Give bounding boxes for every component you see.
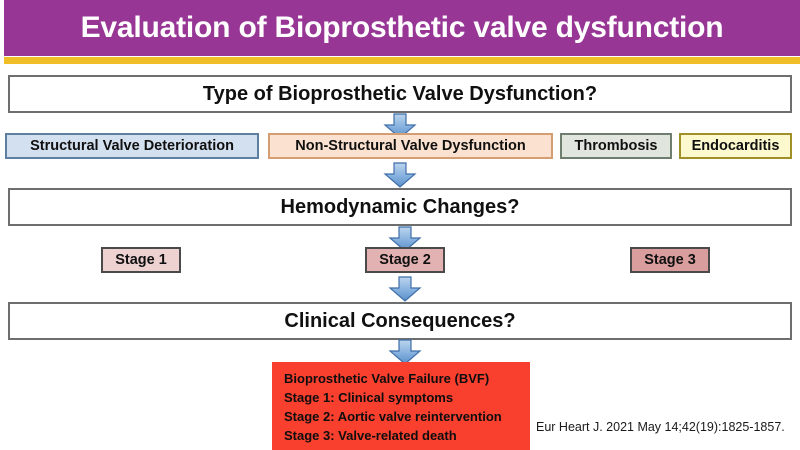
result-line-stage-2: Stage 2: Aortic valve reintervention — [284, 407, 530, 426]
type-box-thrombosis[interactable]: Thrombosis — [560, 133, 672, 159]
stage-box-1[interactable]: Stage 1 — [101, 247, 181, 273]
type-label-thrombosis: Thrombosis — [575, 138, 658, 154]
title-banner: Evaluation of Bioprosthetic valve dysfun… — [4, 0, 800, 56]
question-box-clinical: Clinical Consequences? — [8, 302, 792, 340]
result-line-stage-1: Stage 1: Clinical symptoms — [284, 388, 530, 407]
stage-label-3: Stage 3 — [644, 252, 696, 268]
citation-text: Eur Heart J. 2021 May 14;42(19):1825-185… — [536, 420, 785, 434]
result-line-stage-3: Stage 3: Valve-related death — [284, 426, 530, 445]
question-label-type: Type of Bioprosthetic Valve Dysfunction? — [203, 83, 597, 106]
type-box-structural-valve-deterioration[interactable]: Structural Valve Deterioration — [5, 133, 259, 159]
type-box-non-structural-valve-dysfunction[interactable]: Non-Structural Valve Dysfunction — [268, 133, 553, 159]
stage-label-2: Stage 2 — [379, 252, 431, 268]
question-label-hemodynamic: Hemodynamic Changes? — [281, 196, 520, 219]
result-box-bioprosthetic-valve-failure: Bioprosthetic Valve Failure (BVF) Stage … — [272, 362, 530, 450]
question-box-type: Type of Bioprosthetic Valve Dysfunction? — [8, 75, 792, 113]
title-accent-rule — [4, 57, 800, 64]
question-label-clinical: Clinical Consequences? — [284, 310, 515, 333]
type-label-nsvd: Non-Structural Valve Dysfunction — [295, 138, 525, 154]
down-arrow-icon — [383, 162, 417, 188]
type-label-svd: Structural Valve Deterioration — [30, 138, 234, 154]
page-title: Evaluation of Bioprosthetic valve dysfun… — [81, 11, 724, 45]
stage-label-1: Stage 1 — [115, 252, 167, 268]
stage-box-2[interactable]: Stage 2 — [365, 247, 445, 273]
down-arrow-icon — [388, 276, 422, 302]
slide-canvas: Evaluation of Bioprosthetic valve dysfun… — [0, 0, 800, 450]
result-line-title: Bioprosthetic Valve Failure (BVF) — [284, 369, 530, 388]
type-box-endocarditis[interactable]: Endocarditis — [679, 133, 792, 159]
question-box-hemodynamic: Hemodynamic Changes? — [8, 188, 792, 226]
stage-box-3[interactable]: Stage 3 — [630, 247, 710, 273]
type-label-endocarditis: Endocarditis — [692, 138, 780, 154]
